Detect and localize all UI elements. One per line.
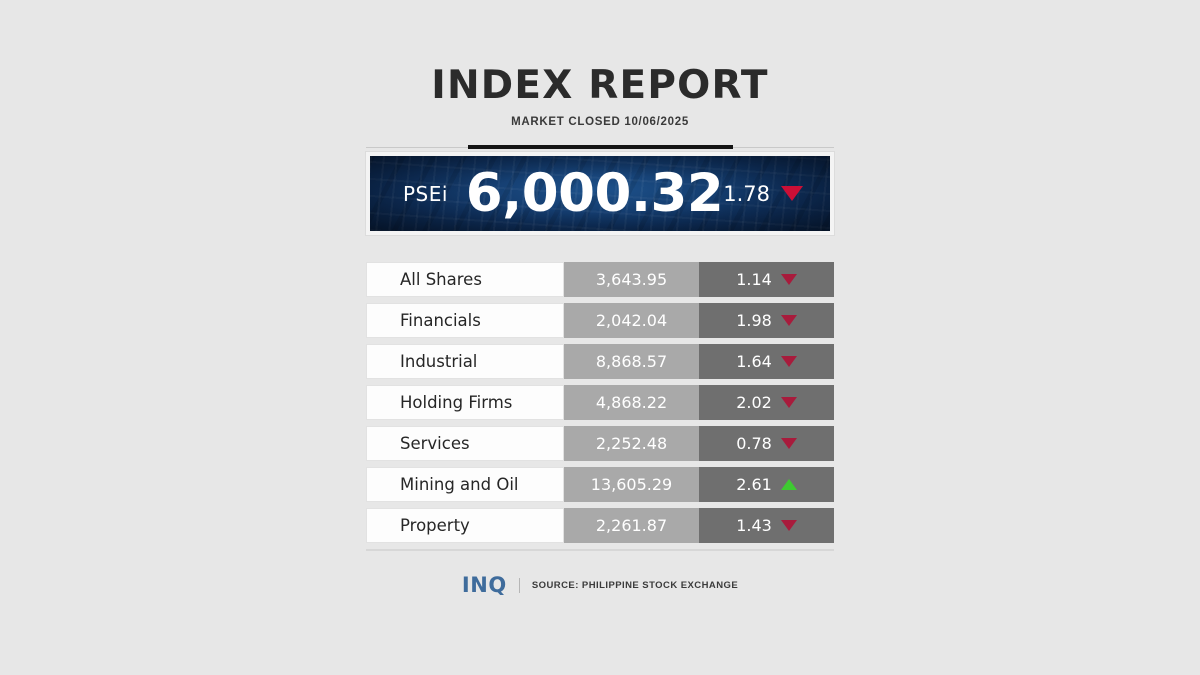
index-change-value: 2.02 <box>736 393 772 412</box>
table-row: Property 2,261.87 1.43 <box>366 508 834 543</box>
index-value: 4,868.22 <box>564 385 699 420</box>
header-accent-bar <box>468 145 733 149</box>
sector-index-table: All Shares 3,643.95 1.14 Financials 2,04… <box>366 262 834 551</box>
market-status-subtitle: MARKET CLOSED 10/06/2025 <box>0 116 1200 128</box>
psei-value: 6,000.32 <box>466 167 724 220</box>
table-row: Mining and Oil 13,605.29 2.61 <box>366 467 834 502</box>
index-change-value: 0.78 <box>736 434 772 453</box>
triangle-down-icon <box>781 186 803 201</box>
index-report-card: INDEX REPORT MARKET CLOSED 10/06/2025 PS… <box>0 0 1200 675</box>
index-value: 2,042.04 <box>564 303 699 338</box>
index-change-value: 2.61 <box>736 475 772 494</box>
index-change-value: 1.14 <box>736 270 772 289</box>
triangle-down-icon <box>781 438 797 449</box>
source-label: SOURCE: PHILIPPINE STOCK EXCHANGE <box>532 580 738 591</box>
inq-logo: INQ <box>462 575 507 596</box>
index-change-value: 1.64 <box>736 352 772 371</box>
psei-banner-background: PSEi 6,000.32 1.78 <box>370 156 830 231</box>
psei-banner: PSEi 6,000.32 1.78 <box>366 152 834 235</box>
index-value: 2,261.87 <box>564 508 699 543</box>
table-row: Services 2,252.48 0.78 <box>366 426 834 461</box>
index-change-value: 1.43 <box>736 516 772 535</box>
index-change-value: 1.98 <box>736 311 772 330</box>
table-row: Industrial 8,868.57 1.64 <box>366 344 834 379</box>
index-name: Mining and Oil <box>366 467 564 502</box>
index-change: 2.02 <box>699 385 834 420</box>
triangle-down-icon <box>781 274 797 285</box>
index-change: 1.14 <box>699 262 834 297</box>
table-row: Holding Firms 4,868.22 2.02 <box>366 385 834 420</box>
index-name: Industrial <box>366 344 564 379</box>
triangle-down-icon <box>781 397 797 408</box>
index-value: 13,605.29 <box>564 467 699 502</box>
triangle-down-icon <box>781 315 797 326</box>
triangle-down-icon <box>781 356 797 367</box>
index-change: 1.98 <box>699 303 834 338</box>
index-name: Property <box>366 508 564 543</box>
index-value: 3,643.95 <box>564 262 699 297</box>
footer: INQ SOURCE: PHILIPPINE STOCK EXCHANGE <box>0 575 1200 596</box>
page-title: INDEX REPORT <box>0 66 1200 105</box>
table-row: Financials 2,042.04 1.98 <box>366 303 834 338</box>
index-change: 2.61 <box>699 467 834 502</box>
table-bottom-divider <box>366 549 834 551</box>
psei-change-value: 1.78 <box>723 182 770 206</box>
index-name: Financials <box>366 303 564 338</box>
index-value: 2,252.48 <box>564 426 699 461</box>
index-name: Services <box>366 426 564 461</box>
index-value: 8,868.57 <box>564 344 699 379</box>
footer-divider <box>519 578 520 593</box>
index-change: 0.78 <box>699 426 834 461</box>
index-name: All Shares <box>366 262 564 297</box>
psei-change-group: 1.78 <box>723 182 803 206</box>
header: INDEX REPORT MARKET CLOSED 10/06/2025 <box>0 66 1200 128</box>
index-change: 1.43 <box>699 508 834 543</box>
index-name: Holding Firms <box>366 385 564 420</box>
triangle-up-icon <box>781 479 797 490</box>
table-row: All Shares 3,643.95 1.14 <box>366 262 834 297</box>
triangle-down-icon <box>781 520 797 531</box>
index-change: 1.64 <box>699 344 834 379</box>
